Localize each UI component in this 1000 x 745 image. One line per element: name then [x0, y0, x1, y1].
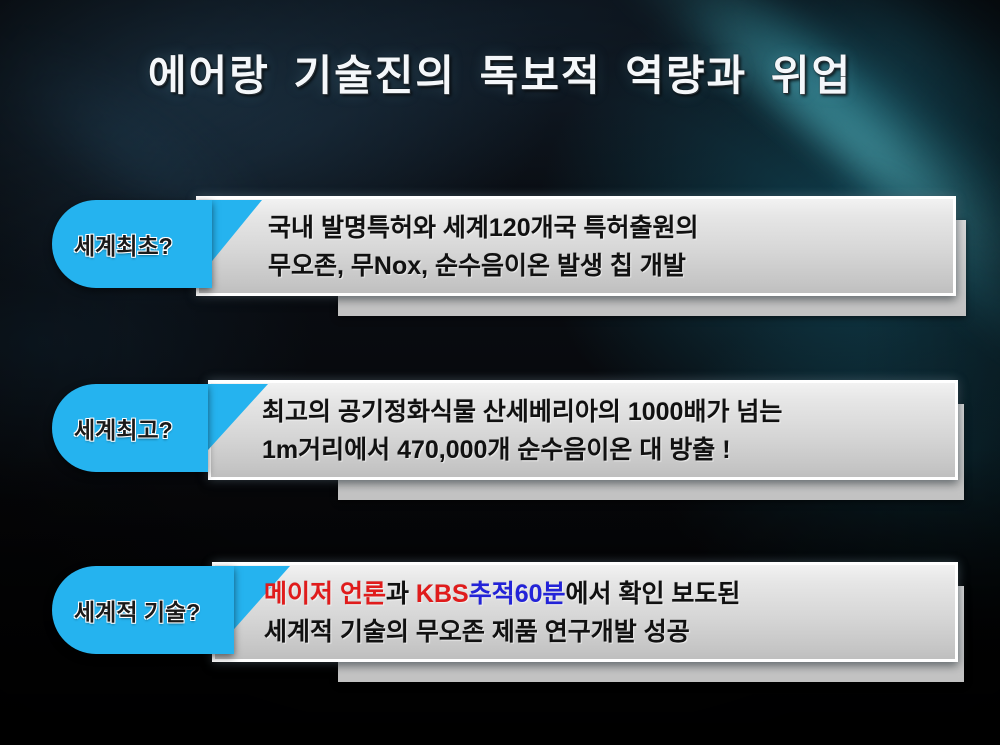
badge-label: 세계적 기술? [52, 593, 200, 627]
feature-row-1: 세계최초? 국내 발명특허와 세계120개국 특허출원의 무오존, 무Nox, … [0, 196, 1000, 316]
feature-card-text: 국내 발명특허와 세계120개국 특허출원의 무오존, 무Nox, 순수음이온 … [268, 209, 699, 285]
text-segment: 메이저 언론 [264, 580, 386, 608]
text-segment: 추적60분 [469, 580, 566, 608]
card-line-1: 최고의 공기정화식물 산세베리아의 1000배가 넘는 [262, 393, 782, 431]
feature-badge[interactable]: 세계적 기술? [52, 566, 234, 654]
text-segment: 국내 발명특허와 세계120개국 특허출원의 [268, 214, 699, 242]
card-line-2: 1m거리에서 470,000개 순수음이온 대 방출 ! [262, 431, 782, 469]
aurora-streak-wide [701, 0, 1000, 228]
card-line-1: 메이저 언론과 KBS추적60분에서 확인 보도된 [264, 575, 740, 613]
text-segment: 세계적 기술의 무오존 제품 연구개발 성공 [264, 618, 690, 646]
feature-card-text: 메이저 언론과 KBS추적60분에서 확인 보도된 세계적 기술의 무오존 제품… [264, 575, 740, 651]
feature-row-3: 세계적 기술? 메이저 언론과 KBS추적60분에서 확인 보도된 세계적 기술… [0, 562, 1000, 682]
badge-label: 세계최고? [52, 411, 173, 445]
badge-label: 세계최초? [52, 227, 173, 261]
feature-card-text: 최고의 공기정화식물 산세베리아의 1000배가 넘는 1m거리에서 470,0… [262, 393, 782, 469]
card-line-2: 세계적 기술의 무오존 제품 연구개발 성공 [264, 613, 740, 651]
text-segment: KBS [416, 580, 469, 608]
card-line-2: 무오존, 무Nox, 순수음이온 발생 칩 개발 [268, 247, 699, 285]
text-segment: 최고의 공기정화식물 산세베리아의 1000배가 넘는 [262, 398, 782, 426]
text-segment: 에서 확인 보도된 [566, 580, 741, 608]
text-segment: 1m거리에서 470,000개 순수음이온 대 방출 ! [262, 436, 731, 464]
text-segment: 무오존, 무Nox, 순수음이온 발생 칩 개발 [268, 252, 686, 280]
card-line-1: 국내 발명특허와 세계120개국 특허출원의 [268, 209, 699, 247]
text-segment: 과 [386, 580, 416, 608]
slide-title: 에어랑 기술진의 독보적 역량과 위업 [0, 42, 1000, 103]
feature-badge[interactable]: 세계최고? [52, 384, 208, 472]
presentation-slide: 에어랑 기술진의 독보적 역량과 위업 세계최초? 국내 발명특허와 세계120… [0, 0, 1000, 745]
feature-badge[interactable]: 세계최초? [52, 200, 212, 288]
feature-row-2: 세계최고? 최고의 공기정화식물 산세베리아의 1000배가 넘는 1m거리에서… [0, 380, 1000, 500]
